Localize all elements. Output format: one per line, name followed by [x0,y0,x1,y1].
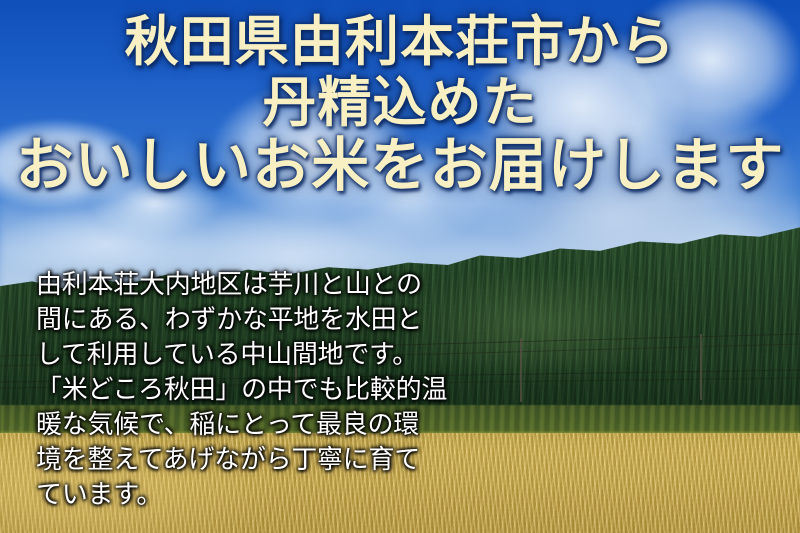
description-line-5: 暖な気候で、稲にとって最良の環 [36,408,466,443]
utility-pole [520,338,522,402]
headline-line-1: 秋田県由利本荘市から [0,14,800,69]
headline: 秋田県由利本荘市から 丹精込めた おいしいお米をお届けします [0,14,800,195]
description-text: 由利本荘大内地区は芋川と山との 間にある、わずかな平地を水田と して利用している… [36,268,466,513]
headline-line-3: おいしいお米をお届けします [0,136,800,195]
headline-line-2: 丹精込めた [0,75,800,130]
description-line-2: 間にある、わずかな平地を水田と [36,303,466,338]
description-line-7: ています。 [36,478,466,513]
description-line-6: 境を整えてあげながら丁寧に育て [36,443,466,478]
utility-pole [700,334,702,400]
description-line-1: 由利本荘大内地区は芋川と山との [36,268,466,303]
description-line-3: して利用している中山間地です。 [36,338,466,373]
description-line-4: 「米どころ秋田」の中でも比較的温 [36,373,466,408]
banner-image: 秋田県由利本荘市から 丹精込めた おいしいお米をお届けします 由利本荘大内地区は… [0,0,800,533]
